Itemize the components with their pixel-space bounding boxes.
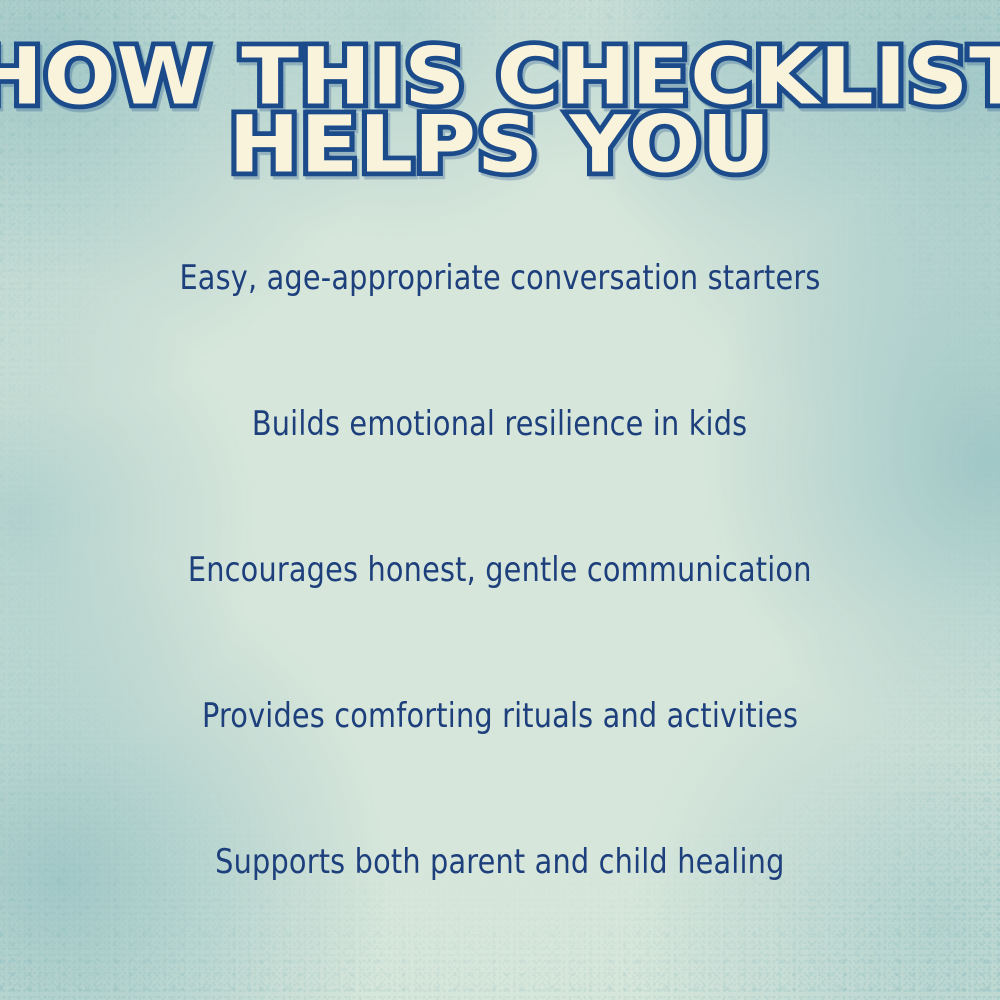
benefit-item-5: Supports both parent and child healing	[215, 842, 784, 882]
page-title: HOW THIS CHECKLIST HELPS YOU	[0, 46, 1000, 177]
title-line-2: HELPS YOU	[0, 112, 1000, 179]
poster-content: HOW THIS CHECKLIST HELPS YOU Easy, age-a…	[0, 0, 1000, 1000]
benefit-item-1: Easy, age-appropriate conversation start…	[179, 258, 820, 298]
benefit-item-2: Builds emotional resilience in kids	[252, 404, 748, 444]
benefits-list: Easy, age-appropriate conversation start…	[0, 258, 1000, 920]
poster-canvas: HOW THIS CHECKLIST HELPS YOU Easy, age-a…	[0, 0, 1000, 1000]
benefit-item-3: Encourages honest, gentle communication	[188, 550, 812, 590]
benefit-item-4: Provides comforting rituals and activiti…	[202, 696, 798, 736]
